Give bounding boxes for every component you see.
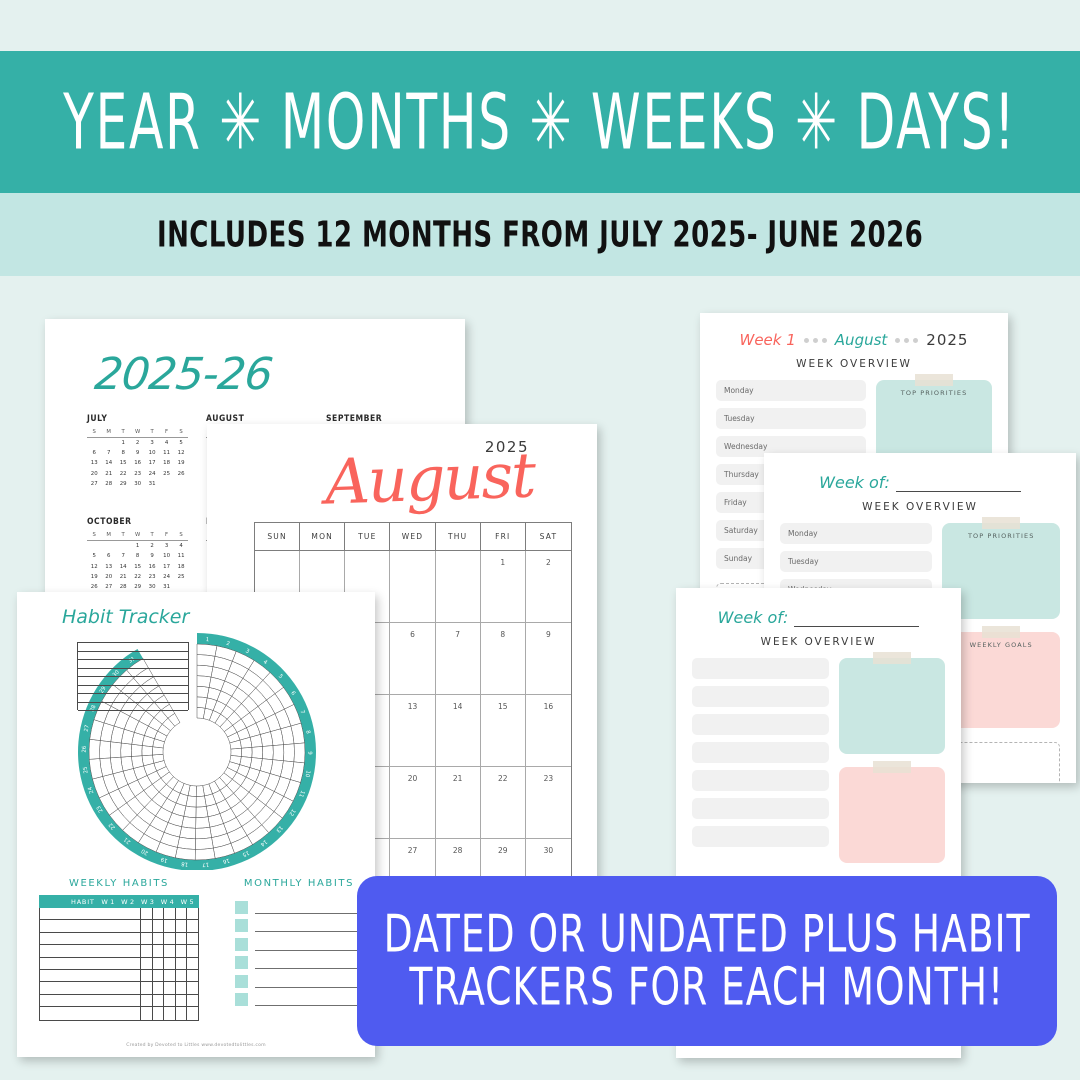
august-day-cell[interactable]: 7 <box>436 623 481 695</box>
mini-calendar-day: 13 <box>87 458 101 468</box>
habit-week-cell[interactable] <box>187 995 198 1006</box>
mini-calendar-day: 4 <box>159 438 173 449</box>
august-day-cell[interactable]: 2 <box>526 551 571 623</box>
august-day-number: 29 <box>498 846 508 855</box>
habit-week-cell[interactable] <box>176 958 188 969</box>
mini-weekday: F <box>159 532 173 541</box>
yearly-page-title: 2025-26 <box>92 349 274 400</box>
habit-wheel-day-number: 1 <box>205 637 209 643</box>
habit-wheel-cell[interactable] <box>131 744 142 756</box>
mini-weekday: S <box>174 429 189 438</box>
habit-lower-section: WEEKLY HABITS HABIT W1 W2 W3 W4 W5 MONTH… <box>17 878 375 1038</box>
monthly-habit-line[interactable] <box>255 919 363 932</box>
tape-icon <box>873 652 911 664</box>
monthly-habits-title: MONTHLY HABITS <box>235 878 363 889</box>
mini-calendar-day: 13 <box>101 562 115 572</box>
weekly-habit-row[interactable] <box>40 995 198 1007</box>
mini-weekday: F <box>159 429 173 438</box>
august-day-number: 30 <box>544 846 554 855</box>
weekly-habit-row[interactable] <box>40 945 198 957</box>
august-day-cell[interactable]: 9 <box>526 623 571 695</box>
mini-calendar-day: 11 <box>159 448 173 458</box>
habit-wheel-cell[interactable] <box>121 743 132 757</box>
subtitle-text: INCLUDES 12 MONTHS FROM JULY 2025- JUNE … <box>157 214 923 255</box>
mini-calendar-day: 24 <box>159 572 173 582</box>
checkbox-icon[interactable] <box>235 919 248 932</box>
august-weekday-header: MON <box>300 523 345 551</box>
mini-calendar-day: 18 <box>159 458 173 468</box>
habit-week-cell[interactable] <box>153 995 165 1006</box>
week2-header: Week of: <box>764 453 1076 492</box>
week-year-label: 2025 <box>926 331 968 349</box>
august-day-number: 16 <box>544 702 554 711</box>
mini-calendar-day: 30 <box>145 582 159 592</box>
mini-weekday: S <box>87 532 101 541</box>
mini-calendar-day: 8 <box>130 551 144 561</box>
mini-calendar-day <box>116 541 130 552</box>
callout-line-2: TRACKERS FOR EACH MONTH! <box>410 957 1005 1017</box>
mini-calendar-day: 28 <box>116 582 130 592</box>
weekly-habit-row[interactable] <box>40 1007 198 1019</box>
headline-text: YEAR ✳ MONTHS ✳ WEEKS ✳ DAYS! <box>64 77 1017 166</box>
weekly-habit-row[interactable] <box>40 908 198 920</box>
habit-week-cell[interactable] <box>153 908 165 919</box>
mini-calendar-july: JULYSMTWTFS12345678910111213141516171819… <box>87 414 188 499</box>
habit-week-cell[interactable] <box>153 970 165 981</box>
mini-calendar-day: 14 <box>116 562 130 572</box>
mini-calendar-week-row: 6789101112 <box>87 448 188 458</box>
habit-wheel-day-number: 18 <box>180 860 188 867</box>
habit-wheel-cell[interactable] <box>196 827 212 839</box>
habit-wheel-cell[interactable] <box>197 644 217 656</box>
mini-calendar-week-row: 20212223242526 <box>87 469 188 479</box>
mini-calendar-day: 11 <box>174 551 189 561</box>
habit-wheel-cell[interactable] <box>177 837 195 849</box>
mini-calendar-day: 27 <box>101 582 115 592</box>
habit-week-cell[interactable] <box>141 933 153 944</box>
mini-calendar-day: 2 <box>145 541 159 552</box>
week-day-row[interactable]: Monday <box>780 523 932 544</box>
mini-calendar-day: 23 <box>130 469 144 479</box>
habit-name-cell[interactable] <box>40 970 141 981</box>
habit-week-cell[interactable] <box>164 908 176 919</box>
week-of-blank-line[interactable] <box>794 613 919 627</box>
habit-week-cell[interactable] <box>176 933 188 944</box>
august-day-cell[interactable] <box>390 551 435 623</box>
week-month-label: August <box>835 331 888 349</box>
august-day-cell[interactable]: 21 <box>436 767 481 839</box>
mini-weekday: T <box>145 532 159 541</box>
week1-header: Week 1 August 2025 <box>700 313 1008 349</box>
habit-week-cell[interactable] <box>153 920 165 931</box>
habit-week-cell[interactable] <box>176 1007 188 1019</box>
mini-calendar-day: 26 <box>87 582 101 592</box>
mini-calendar-day: 10 <box>145 448 159 458</box>
mini-calendar-day: 1 <box>130 541 144 552</box>
week-day-row[interactable]: Tuesday <box>780 551 932 572</box>
mini-calendar-day: 2 <box>130 438 144 449</box>
mini-calendar-day: 9 <box>145 551 159 561</box>
mini-weekday: W <box>130 532 144 541</box>
mini-calendar-day: 31 <box>145 479 159 489</box>
habit-page-footer: Created by Devoted to Littles www.devote… <box>17 1043 375 1048</box>
habit-wheel-cell[interactable] <box>110 742 121 758</box>
habit-wheel-cell[interactable] <box>100 741 111 759</box>
mini-calendar-day: 8 <box>116 448 130 458</box>
headline-banner: YEAR ✳ MONTHS ✳ WEEKS ✳ DAYS! <box>0 51 1080 193</box>
mini-calendar-week-row: 13141516171819 <box>87 458 188 468</box>
habit-wheel-day-number: 25 <box>83 766 90 774</box>
callout-line-1: DATED OR UNDATED PLUS HABIT <box>384 904 1031 964</box>
mini-calendar-day: 6 <box>87 448 101 458</box>
habit-name-cell[interactable] <box>40 1007 141 1019</box>
august-weekday-header: WED <box>390 523 435 551</box>
mini-calendar-day: 4 <box>174 541 189 552</box>
habit-name-cell[interactable] <box>40 958 141 969</box>
habit-wheel-cell[interactable] <box>252 746 263 758</box>
mini-calendar-week-row: 19202122232425 <box>87 572 188 582</box>
habit-week-cell[interactable] <box>176 982 188 993</box>
habit-week-cell[interactable] <box>176 920 188 931</box>
habit-wheel-cell[interactable] <box>294 743 305 763</box>
habit-tracker-page[interactable]: Habit Tracker 12345678910111213141516171… <box>17 592 375 1057</box>
august-day-cell[interactable]: 14 <box>436 695 481 767</box>
top-priorities-card[interactable] <box>839 658 945 754</box>
mini-calendar-month-name: JULY <box>87 414 178 424</box>
habit-week-cell[interactable] <box>187 982 198 993</box>
top-background-strip <box>0 0 1080 51</box>
habit-name-cell[interactable] <box>40 995 141 1006</box>
habit-week-cell[interactable] <box>164 958 176 969</box>
august-day-cell[interactable]: 8 <box>481 623 526 695</box>
habit-week-cell[interactable] <box>187 945 198 956</box>
habit-week-cell[interactable] <box>141 908 153 919</box>
habit-week-cell[interactable] <box>153 933 165 944</box>
mini-calendar-day: 18 <box>174 562 189 572</box>
mini-calendar-day: 15 <box>130 562 144 572</box>
habit-name-lines[interactable] <box>77 642 189 710</box>
august-day-cell[interactable]: 16 <box>526 695 571 767</box>
week3-body <box>676 648 961 863</box>
mini-calendar-day: 30 <box>130 479 144 489</box>
monthly-habit-row[interactable] <box>235 969 363 988</box>
week-day-row[interactable] <box>692 658 829 679</box>
habit-wheel-cell[interactable] <box>197 665 213 677</box>
habit-name-cell[interactable] <box>40 920 141 931</box>
week-day-row[interactable] <box>692 742 829 763</box>
mini-weekday: T <box>145 429 159 438</box>
mini-calendar-day: 29 <box>130 582 144 592</box>
monthly-habit-line[interactable] <box>255 901 363 914</box>
habit-name-cell[interactable] <box>40 908 141 919</box>
mini-calendar-month-name: AUGUST <box>206 414 297 424</box>
habit-wheel-cell[interactable] <box>182 816 196 828</box>
mini-calendar-day: 21 <box>101 469 115 479</box>
monthly-habit-row[interactable] <box>235 914 363 933</box>
august-day-number: 1 <box>500 558 505 567</box>
week-of-blank-line[interactable] <box>896 478 1021 492</box>
mini-calendar-day: 12 <box>174 448 189 458</box>
monthly-habit-line[interactable] <box>255 956 363 969</box>
habit-column-header: HABIT <box>71 898 95 906</box>
habit-week-cell[interactable] <box>187 920 198 931</box>
habit-week-cell[interactable] <box>164 920 176 931</box>
mini-calendar-week-row: 12131415161718 <box>87 562 188 572</box>
habit-week-cell[interactable] <box>141 995 153 1006</box>
weekly-habit-row[interactable] <box>40 933 198 945</box>
habit-week-cell[interactable] <box>164 945 176 956</box>
monthly-habit-row[interactable] <box>235 951 363 970</box>
mini-calendar-october: OCTOBERSMTWTFS12345678910111213141516171… <box>87 517 188 602</box>
august-day-number: 14 <box>453 702 463 711</box>
week-column-headers: W1 W2 W3 W4 W5 <box>101 898 196 906</box>
tape-icon <box>873 761 911 773</box>
dot-separator-icon <box>895 338 918 343</box>
august-day-number: 23 <box>544 774 554 783</box>
mini-calendar-week-row: 2728293031 <box>87 479 188 489</box>
habit-wheel-cell[interactable] <box>196 796 206 807</box>
mini-calendar-day: 25 <box>174 572 189 582</box>
weekly-habits-title: WEEKLY HABITS <box>39 878 199 889</box>
weekly-goals-card[interactable] <box>839 767 945 863</box>
habit-week-cell[interactable] <box>176 995 188 1006</box>
mini-calendar-day <box>174 582 189 592</box>
habit-week-cell[interactable] <box>153 945 165 956</box>
mini-calendar-day: 5 <box>87 551 101 561</box>
august-day-cell[interactable]: 1 <box>481 551 526 623</box>
habit-week-cell[interactable] <box>141 970 153 981</box>
habit-wheel-day-number: 17 <box>202 861 209 868</box>
habit-week-cell[interactable] <box>141 982 153 993</box>
habit-name-cell[interactable] <box>40 982 141 993</box>
habit-week-cell[interactable] <box>187 970 198 981</box>
mini-calendar-day <box>101 541 115 552</box>
august-day-cell[interactable]: 6 <box>390 623 435 695</box>
week-day-row[interactable] <box>692 714 829 735</box>
habit-week-cell[interactable] <box>164 933 176 944</box>
habit-wheel-cell[interactable] <box>273 745 284 761</box>
week-day-row[interactable]: Monday <box>716 380 866 401</box>
habit-week-cell[interactable] <box>141 958 153 969</box>
august-day-number: 8 <box>500 630 505 639</box>
mini-calendar-day: 25 <box>159 469 173 479</box>
mini-calendar-day: 1 <box>116 438 130 449</box>
week-day-row[interactable] <box>692 798 829 819</box>
monthly-habit-row[interactable] <box>235 895 363 914</box>
habit-week-cell[interactable] <box>141 920 153 931</box>
tape-icon <box>915 374 953 386</box>
week3-side-column <box>839 658 945 863</box>
habit-wheel-cell[interactable] <box>262 746 273 760</box>
week-day-row[interactable] <box>692 826 829 847</box>
august-day-cell[interactable]: 20 <box>390 767 435 839</box>
mini-calendar-day: 12 <box>87 562 101 572</box>
mini-weekday: W <box>130 429 144 438</box>
habit-week-cell[interactable] <box>153 982 165 993</box>
august-day-number: 28 <box>453 846 463 855</box>
habit-week-cell[interactable] <box>153 958 165 969</box>
habit-wheel-cell[interactable] <box>196 817 210 829</box>
mini-calendar-day: 15 <box>116 458 130 468</box>
august-day-cell[interactable]: 22 <box>481 767 526 839</box>
mini-weekday: M <box>101 429 115 438</box>
mini-calendar-month-name: OCTOBER <box>87 517 178 527</box>
monthly-habits-list[interactable] <box>235 895 363 1006</box>
mini-calendar-day: 27 <box>87 479 101 489</box>
habit-name-cell[interactable] <box>40 945 141 956</box>
habit-week-cell[interactable] <box>141 945 153 956</box>
checkbox-icon[interactable] <box>235 993 248 1006</box>
habit-wheel-cell[interactable] <box>196 806 208 817</box>
habit-wheel-cell[interactable] <box>175 847 195 860</box>
mini-calendar-day: 23 <box>145 572 159 582</box>
habit-week-cell[interactable] <box>176 970 188 981</box>
mini-weekday: T <box>116 429 130 438</box>
august-weekday-header: FRI <box>481 523 526 551</box>
mini-calendar-day: 21 <box>116 572 130 582</box>
august-day-cell[interactable]: 23 <box>526 767 571 839</box>
subtitle-band: INCLUDES 12 MONTHS FROM JULY 2025- JUNE … <box>0 193 1080 276</box>
mini-calendar-day: 22 <box>116 469 130 479</box>
mini-calendar-day: 14 <box>101 458 115 468</box>
week3-day-list <box>692 658 829 863</box>
week-of-label: Week of: <box>718 608 789 627</box>
august-day-number: 27 <box>408 846 418 855</box>
habit-week-cell[interactable] <box>164 982 176 993</box>
mini-weekday: M <box>101 532 115 541</box>
habit-week-cell[interactable] <box>164 1007 176 1019</box>
mini-calendar-day <box>87 541 101 552</box>
habit-wheel-cell[interactable] <box>197 655 215 667</box>
august-day-number: 9 <box>546 630 551 639</box>
habit-wheel-day-number: 9 <box>306 751 312 755</box>
mini-calendar-day <box>159 479 173 489</box>
august-day-number: 22 <box>498 774 508 783</box>
week-day-row[interactable] <box>692 770 829 791</box>
mini-calendar-day: 19 <box>87 572 101 582</box>
week-of-label: Week of: <box>819 473 890 492</box>
habit-week-cell[interactable] <box>187 958 198 969</box>
week-number-label: Week 1 <box>740 331 796 349</box>
mini-calendar-day: 17 <box>145 458 159 468</box>
mini-calendar-day: 9 <box>130 448 144 458</box>
habit-week-cell[interactable] <box>176 908 188 919</box>
weekly-habits-header: HABIT W1 W2 W3 W4 W5 <box>39 895 199 908</box>
mini-weekday: S <box>174 532 189 541</box>
mini-calendar-day <box>87 438 101 449</box>
habit-week-cell[interactable] <box>164 970 176 981</box>
checkbox-icon[interactable] <box>235 901 248 914</box>
tape-icon <box>982 626 1020 638</box>
habit-wheel-cell[interactable] <box>197 676 211 688</box>
august-day-number: 13 <box>408 702 418 711</box>
top-priorities-label: TOP PRIORITIES <box>968 532 1035 619</box>
habit-week-cell[interactable] <box>187 1007 198 1019</box>
promo-callout: DATED OR UNDATED PLUS HABIT TRACKERS FOR… <box>357 876 1057 1046</box>
mini-calendar-day: 3 <box>145 438 159 449</box>
weekly-habit-row[interactable] <box>40 920 198 932</box>
august-day-cell[interactable]: 13 <box>390 695 435 767</box>
mini-calendar-day: 16 <box>145 562 159 572</box>
weekly-habit-row[interactable] <box>40 958 198 970</box>
habit-week-cell[interactable] <box>164 995 176 1006</box>
checkbox-icon[interactable] <box>235 956 248 969</box>
habit-name-cell[interactable] <box>40 933 141 944</box>
habit-wheel-cell[interactable] <box>283 744 294 762</box>
mini-calendar-day: 29 <box>116 479 130 489</box>
weekly-habit-row[interactable] <box>40 982 198 994</box>
mini-calendar-week-row: 12345 <box>87 438 188 449</box>
tape-icon <box>982 517 1020 529</box>
habit-wheel-cell[interactable] <box>195 838 213 850</box>
week3-header: Week of: <box>676 588 961 627</box>
august-day-cell[interactable]: 15 <box>481 695 526 767</box>
habit-week-cell[interactable] <box>176 945 188 956</box>
monthly-habit-line[interactable] <box>255 993 363 1006</box>
monthly-habit-row[interactable] <box>235 988 363 1007</box>
august-month-title: August <box>324 438 535 518</box>
mini-calendar-day: 3 <box>159 541 173 552</box>
mini-calendar-day: 7 <box>101 448 115 458</box>
mini-calendar-day: 7 <box>116 551 130 561</box>
habit-wheel-cell[interactable] <box>89 739 100 759</box>
mini-calendar-day: 20 <box>87 469 101 479</box>
week-day-row[interactable]: Tuesday <box>716 408 866 429</box>
monthly-habit-line[interactable] <box>255 938 363 951</box>
mini-calendar-day: 5 <box>174 438 189 449</box>
mini-calendar-day: 16 <box>130 458 144 468</box>
habit-wheel-day-number: 26 <box>82 745 88 753</box>
week-overview-title: WEEK OVERVIEW <box>764 501 1076 513</box>
mini-calendar-week-row: 567891011 <box>87 551 188 561</box>
august-weekday-header: SUN <box>255 523 300 551</box>
monthly-habit-line[interactable] <box>255 975 363 988</box>
mini-weekday: T <box>116 532 130 541</box>
august-day-cell[interactable] <box>436 551 481 623</box>
mini-calendar-day: 28 <box>101 479 115 489</box>
monthly-habit-row[interactable] <box>235 932 363 951</box>
habit-week-cell[interactable] <box>153 1007 165 1019</box>
august-day-number: 7 <box>455 630 460 639</box>
august-weekday-header: THU <box>436 523 481 551</box>
august-day-number: 2 <box>546 558 551 567</box>
mini-calendar-week-row: 262728293031 <box>87 582 188 592</box>
august-day-number: 21 <box>453 774 463 783</box>
habit-wheel-cell[interactable] <box>142 745 153 755</box>
week-day-row[interactable] <box>692 686 829 707</box>
monthly-habits-block: MONTHLY HABITS <box>235 878 363 1006</box>
mini-calendar-day: 19 <box>174 458 189 468</box>
habit-week-cell[interactable] <box>187 908 198 919</box>
august-weekday-header: SAT <box>526 523 571 551</box>
habit-wheel-cell[interactable] <box>231 748 242 756</box>
habit-wheel-cell[interactable] <box>241 747 252 757</box>
mini-calendar-day: 22 <box>130 572 144 582</box>
habit-wheel-cell[interactable] <box>180 827 196 839</box>
weekly-habit-row[interactable] <box>40 970 198 982</box>
week-overview-title: WEEK OVERVIEW <box>676 636 961 648</box>
weekly-habits-table[interactable] <box>39 908 199 1021</box>
august-weekday-header: TUE <box>345 523 390 551</box>
habit-week-cell[interactable] <box>141 1007 153 1019</box>
checkbox-icon[interactable] <box>235 975 248 988</box>
habit-week-cell[interactable] <box>187 933 198 944</box>
mini-calendar-day: 10 <box>159 551 173 561</box>
habit-wheel-cell[interactable] <box>195 848 215 860</box>
checkbox-icon[interactable] <box>235 938 248 951</box>
mini-calendar-day: 26 <box>174 469 189 479</box>
mini-calendar-month-name: SEPTEMBER <box>326 414 417 424</box>
